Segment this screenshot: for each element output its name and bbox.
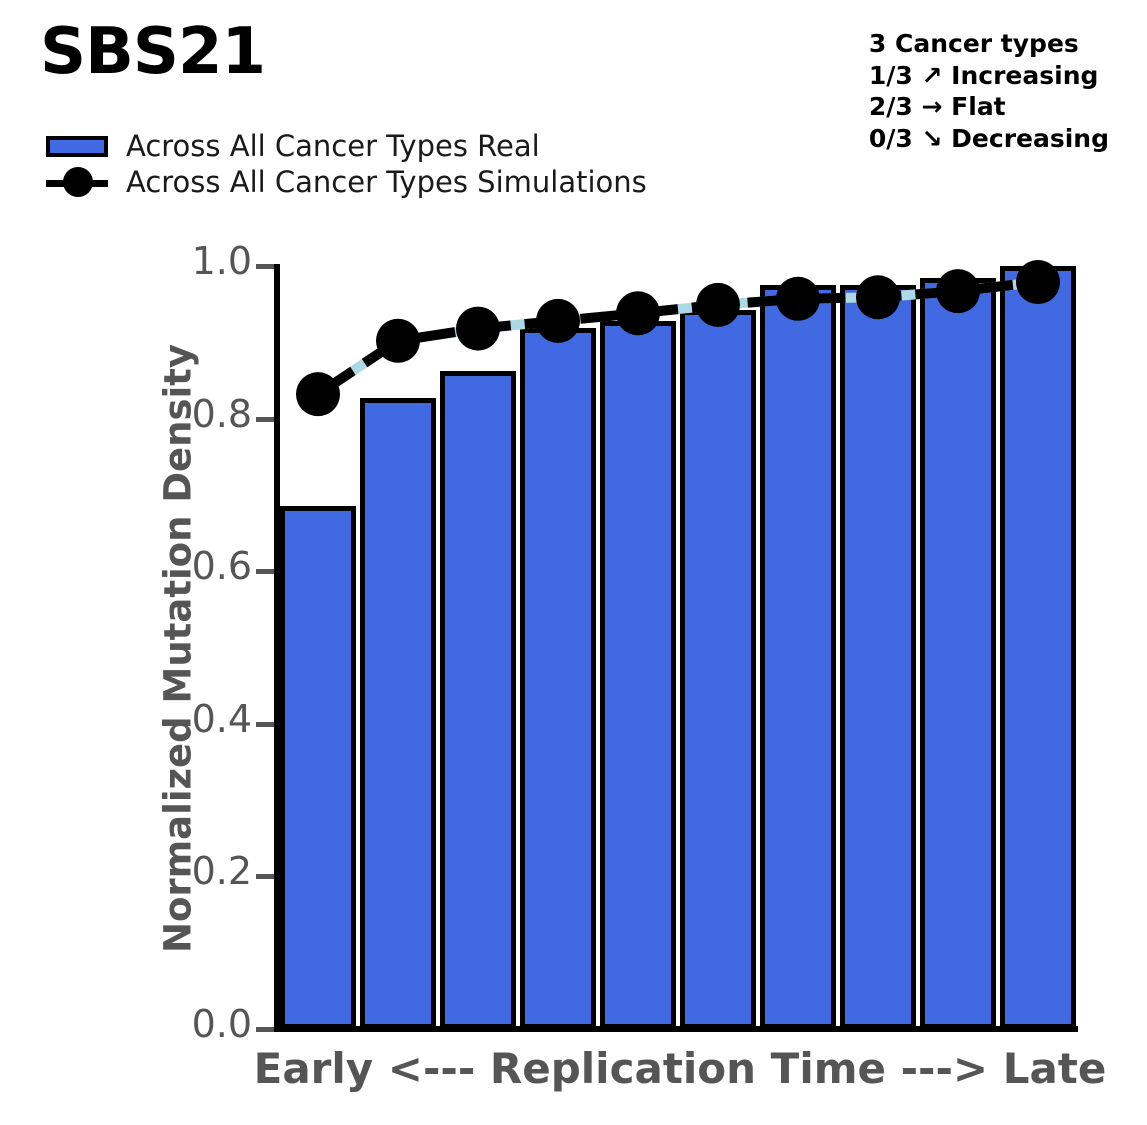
bar — [360, 398, 437, 1029]
bar-swatch-icon — [42, 132, 114, 160]
bar — [920, 278, 997, 1029]
annotation-line-flat: 2/3 → Flat — [869, 91, 1109, 123]
annotation-line-count: 3 Cancer types — [869, 28, 1109, 60]
bar — [440, 371, 517, 1029]
cancer-type-summary-annotation: 3 Cancer types 1/3 ↗ Increasing 2/3 → Fl… — [869, 28, 1109, 154]
data-point-marker — [456, 307, 500, 351]
y-axis-tick-label: 0.4 — [132, 697, 252, 741]
x-axis-label: Early <--- Replication Time ---> Late — [240, 1044, 1120, 1093]
y-axis-tick — [256, 722, 274, 727]
y-axis-tick — [256, 264, 274, 269]
bar — [760, 285, 837, 1029]
annotation-line-increasing: 1/3 ↗ Increasing — [869, 60, 1109, 92]
data-point-marker — [296, 372, 340, 416]
line-marker-icon — [42, 168, 114, 196]
chart-figure: SBS21 Across All Cancer Types Real Acros… — [0, 0, 1147, 1125]
y-axis-tick — [256, 874, 274, 879]
y-axis-tick-label: 0.6 — [132, 544, 252, 588]
y-axis-tick — [256, 1027, 274, 1032]
annotation-line-decreasing: 0/3 ↘ Decreasing — [869, 123, 1109, 155]
data-point-marker — [376, 319, 420, 363]
y-axis-tick-label: 0.0 — [132, 1002, 252, 1046]
y-axis-tick-label: 0.2 — [132, 849, 252, 893]
bar — [840, 285, 917, 1029]
y-axis-tick-labels: 0.00.20.40.60.81.0 — [128, 0, 252, 1125]
y-axis-tick-label: 1.0 — [132, 239, 252, 283]
bar — [520, 328, 597, 1029]
y-axis-tick — [256, 569, 274, 574]
bar — [600, 321, 677, 1029]
y-axis-tick-label: 0.8 — [132, 392, 252, 436]
bar — [680, 310, 757, 1029]
bar — [280, 506, 357, 1029]
y-axis-tick — [256, 417, 274, 422]
bar — [1000, 266, 1077, 1029]
